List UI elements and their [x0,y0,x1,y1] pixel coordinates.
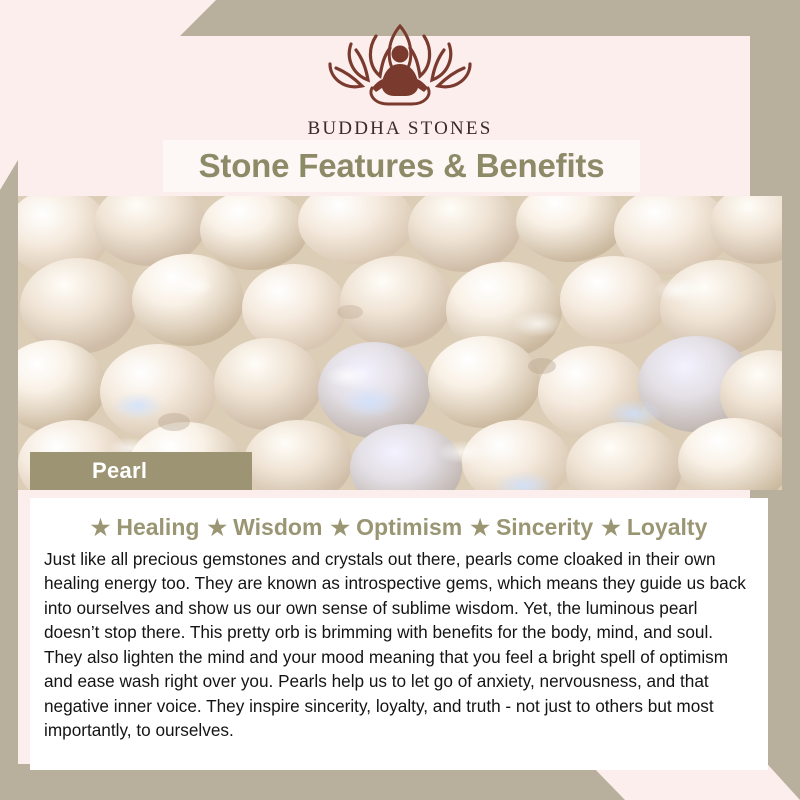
star-icon: ★ [601,517,621,539]
star-icon: ★ [91,517,111,539]
benefit-item-healing: ★ Healing [91,514,200,541]
poster-root: BUDDHA STONES Stone Features & Benefits [0,0,800,800]
benefit-item-wisdom: ★ Wisdom [207,514,322,541]
brand-name: BUDDHA STONES [0,118,800,140]
benefit-label: Loyalty [627,514,708,541]
benefit-label: Wisdom [233,514,322,541]
benefit-item-sincerity: ★ Sincerity [470,514,593,541]
description-text: Just like all precious gemstones and cry… [44,547,754,742]
benefit-label: Healing [116,514,199,541]
content-panel: ★ Healing ★ Wisdom ★ Optimism ★ Sincerit… [30,498,768,770]
benefit-item-loyalty: ★ Loyalty [601,514,707,541]
pearl-photo [18,196,782,490]
stone-name: Pearl [30,458,147,484]
benefit-item-optimism: ★ Optimism [330,514,462,541]
benefit-label: Optimism [356,514,462,541]
brand-logo: BUDDHA STONES [0,0,800,140]
title-banner: Stone Features & Benefits [163,140,640,192]
benefits-list: ★ Healing ★ Wisdom ★ Optimism ★ Sincerit… [30,498,768,541]
page-title: Stone Features & Benefits [199,147,605,185]
benefit-label: Sincerity [496,514,593,541]
star-icon: ★ [470,517,490,539]
lotus-meditation-logo-icon [0,14,800,114]
star-icon: ★ [330,517,350,539]
stone-name-band: Pearl [30,452,252,490]
star-icon: ★ [207,517,227,539]
